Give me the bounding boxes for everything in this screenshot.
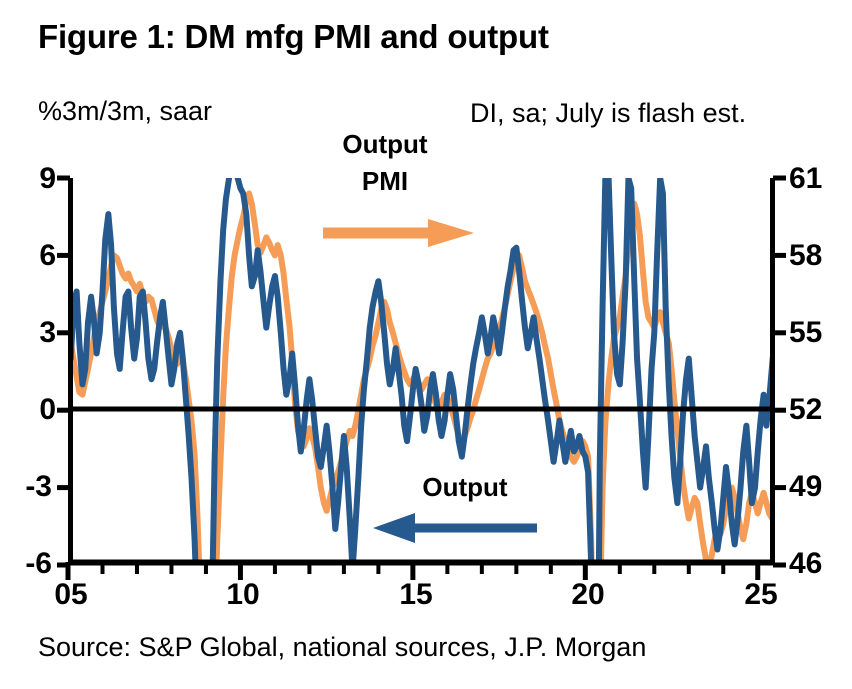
ytick-left-neg3: -3 (0, 470, 52, 504)
source-note: Source: S&P Global, national sources, J.… (38, 632, 646, 663)
xtick-05: 05 (36, 578, 106, 612)
figure-container: Figure 1: DM mfg PMI and output %3m/3m, … (0, 0, 852, 689)
ytick-right-58: 58 (789, 239, 849, 273)
xtick-25: 25 (726, 578, 796, 612)
ytick-right-55: 55 (789, 316, 849, 350)
ytick-right-49: 49 (789, 470, 849, 504)
xtick-15: 15 (381, 578, 451, 612)
output-pmi-arrow (323, 219, 474, 247)
ytick-left-6: 6 (4, 239, 56, 273)
xtick-20: 20 (553, 578, 623, 612)
xtick-10: 10 (208, 578, 278, 612)
ytick-right-46: 46 (789, 547, 849, 581)
ytick-left-neg6: -6 (0, 547, 52, 581)
ytick-left-3: 3 (4, 316, 56, 350)
output-arrow (373, 513, 537, 543)
ytick-right-52: 52 (789, 393, 849, 427)
ytick-left-9: 9 (4, 162, 56, 196)
ytick-right-61: 61 (789, 162, 849, 196)
ytick-left-0: 0 (4, 393, 56, 427)
